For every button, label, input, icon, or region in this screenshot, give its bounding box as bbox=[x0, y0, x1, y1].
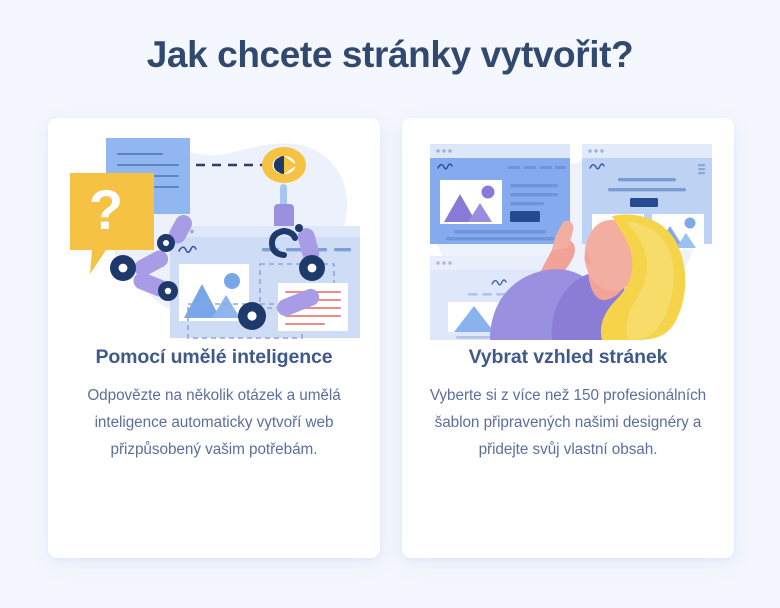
options-card-row: ? bbox=[48, 118, 734, 558]
page-root: Jak chcete stránky vytvořit? bbox=[0, 0, 780, 608]
card-body-template: Vyberte si z více než 150 profesionálníc… bbox=[426, 382, 710, 463]
card-title-template: Vybrat vzhled stránek bbox=[424, 344, 712, 371]
card-body-ai: Odpovězte na několik otázek a umělá inte… bbox=[72, 382, 356, 463]
template-window-1 bbox=[430, 144, 570, 244]
page-title: Jak chcete stránky vytvořit? bbox=[0, 27, 780, 83]
ai-robot-arm-illustration: ? bbox=[48, 118, 380, 340]
svg-text:?: ? bbox=[89, 178, 123, 241]
option-card-ai[interactable]: ? bbox=[48, 118, 380, 558]
card-title-ai: Pomocí umělé inteligence bbox=[70, 344, 358, 371]
woman-choosing-template-illustration bbox=[402, 118, 734, 340]
option-card-template[interactable]: Vybrat vzhled stránek Vyberte si z více … bbox=[402, 118, 734, 558]
